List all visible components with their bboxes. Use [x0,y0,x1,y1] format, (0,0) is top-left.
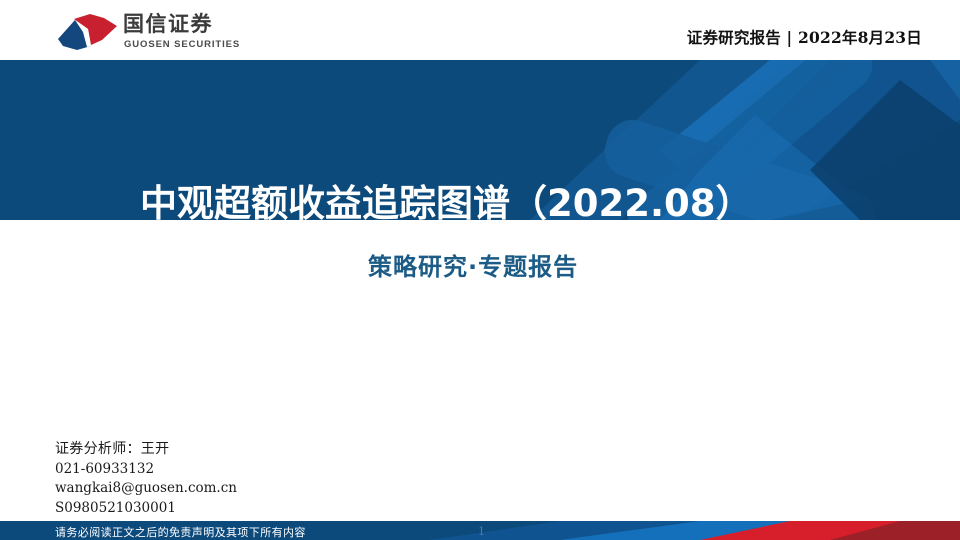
logo-chinese-name: 国信证券 [123,11,213,37]
page-footer: 请务必阅读正文之后的免责声明及其项下所有内容 1 [0,521,960,540]
page-title: 中观超额收益追踪图谱（2022.08） [140,173,753,220]
title-banner: 中观超额收益追踪图谱（2022.08） [0,60,960,220]
analyst-info-block: 证券分析师：王开 021-60933132 wangkai8@guosen.co… [55,440,475,518]
analyst-phone: 021-60933132 [55,460,475,480]
analyst-name: 证券分析师：王开 [55,440,475,460]
page-header: 国信证券 GUOSEN SECURITIES 证券研究报告 | 2022年8月2… [0,0,960,60]
analyst-license-number: S0980521030001 [55,499,475,519]
guosen-logo-mark-icon [57,13,119,51]
report-subtitle: 策略研究·专题报告 [368,247,578,282]
report-cover-page: 国信证券 GUOSEN SECURITIES 证券研究报告 | 2022年8月2… [0,0,960,540]
guosen-logo: 国信证券 GUOSEN SECURITIES [57,11,227,55]
report-type-and-date: 证券研究报告 | 2022年8月23日 [687,26,922,48]
footer-disclaimer: 请务必阅读正文之后的免责声明及其项下所有内容 [55,524,306,540]
page-number: 1 [478,525,485,538]
analyst-email: wangkai8@guosen.com.cn [55,479,475,499]
logo-english-name: GUOSEN SECURITIES [124,39,240,50]
